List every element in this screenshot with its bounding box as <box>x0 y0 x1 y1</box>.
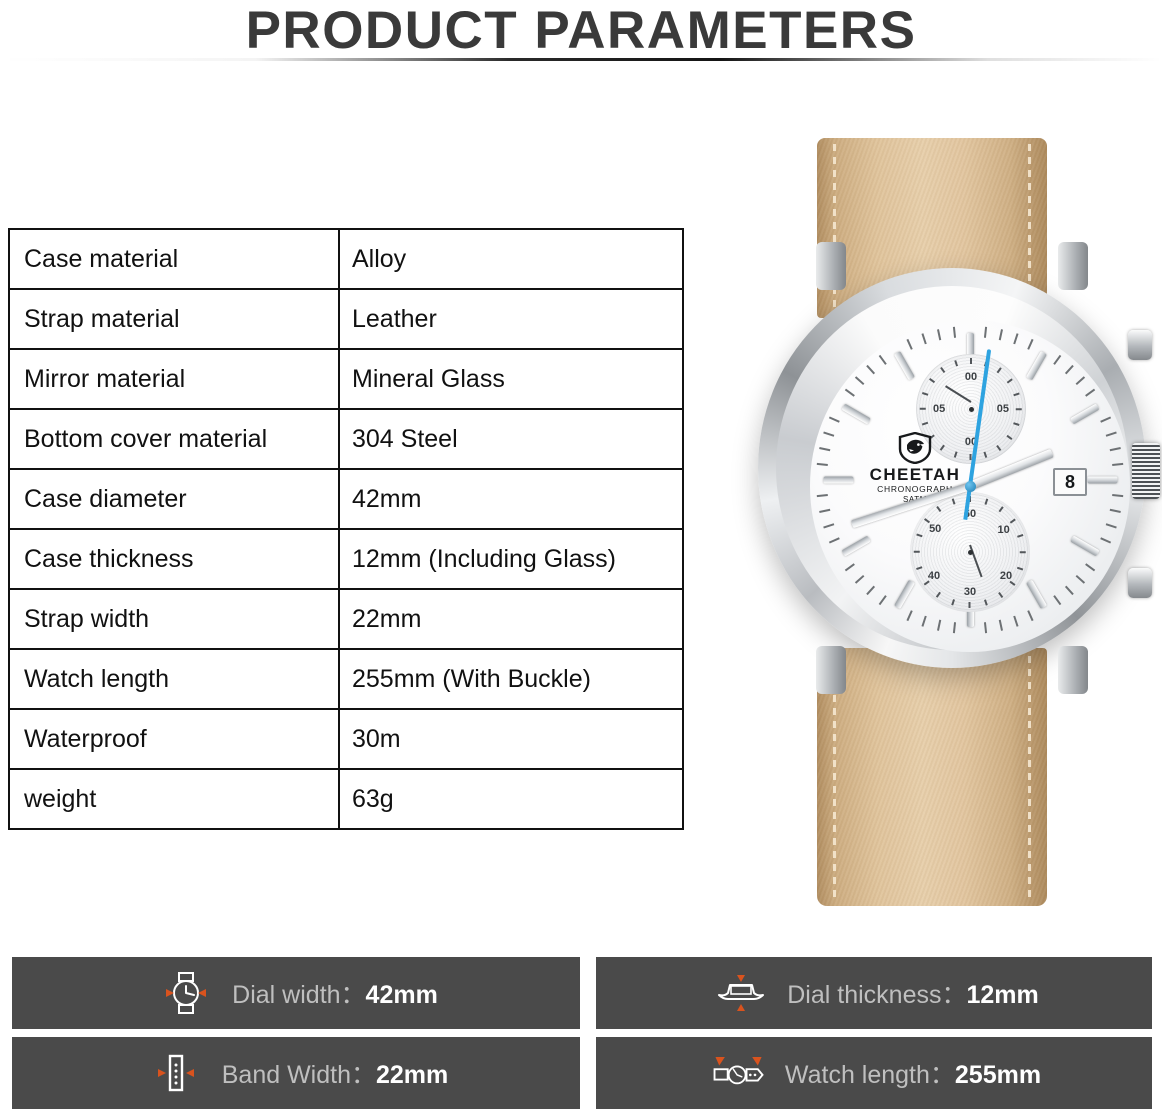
spec-value: 63g <box>339 769 683 829</box>
dial-minute-tick <box>819 509 830 513</box>
subdial-tick <box>1020 551 1026 553</box>
subdial-tick <box>999 592 1004 598</box>
subdial-tick <box>969 602 971 608</box>
measurement-bars: Dial width：42mm Dial thickness：12mm <box>12 957 1152 1117</box>
dial-minute-tick <box>999 620 1003 631</box>
dial-minute-tick <box>817 463 828 466</box>
spec-value: 30m <box>339 709 683 769</box>
measurement-row-1: Dial width：42mm Dial thickness：12mm <box>12 957 1152 1029</box>
watch-length-label: Watch length： <box>785 1061 955 1089</box>
dial-hour-index <box>893 580 914 609</box>
spec-value: 255mm (With Buckle) <box>339 649 683 709</box>
dial-minute-tick <box>866 365 875 375</box>
subdial-tick <box>984 452 987 458</box>
dial-minute-tick <box>1013 333 1018 344</box>
dial-minute-tick <box>953 622 956 633</box>
subdial-top-label-05-left: 05 <box>933 403 945 415</box>
subdial-tick <box>1007 435 1013 440</box>
subdial-tick <box>917 567 923 570</box>
dial-hour-index <box>1087 477 1117 484</box>
spec-value: Mineral Glass <box>339 349 683 409</box>
dial-minute-tick <box>845 563 855 571</box>
measurement-bar-band-width: Band Width：22mm <box>12 1037 580 1109</box>
dial-width-icon <box>154 969 218 1017</box>
dial-hour-index <box>1025 580 1046 609</box>
subdial-tick <box>922 422 928 425</box>
dial-minute-tick <box>1110 509 1121 513</box>
dial-minute-tick <box>1106 523 1117 528</box>
subdial-tick <box>955 360 958 366</box>
dial-minute-tick <box>1076 575 1086 584</box>
subdial-top-label-00-top: 00 <box>965 371 977 383</box>
spec-key: Bottom cover material <box>9 409 339 469</box>
subdial-tick <box>999 506 1004 512</box>
dial-thickness-text: Dial thickness：12mm <box>787 975 1039 1011</box>
dial-minute-tick <box>1106 431 1117 436</box>
title-divider <box>0 58 1162 61</box>
subdial-top-pin <box>969 407 974 412</box>
dial-hour-index <box>841 535 870 556</box>
spec-key: Case diameter <box>9 469 339 529</box>
dial-minute-tick <box>984 622 987 633</box>
subdial-tick <box>1016 408 1022 410</box>
dial-minute-tick <box>1112 463 1123 466</box>
table-row: Mirror materialMineral Glass <box>9 349 683 409</box>
dial-minute-tick <box>817 494 828 497</box>
watch-strap-bottom <box>817 648 1047 906</box>
spec-value: Leather <box>339 289 683 349</box>
watch-crown <box>1132 443 1160 499</box>
subdial-tick <box>920 408 926 410</box>
dial-minute-tick <box>1100 416 1111 422</box>
subdial-bottom-label-30: 30 <box>964 586 976 598</box>
subdial-tick <box>985 599 988 605</box>
spec-value: 22mm <box>339 589 683 649</box>
subdial-tick <box>936 592 941 598</box>
dial-hour-index <box>1070 403 1099 424</box>
dial-minute-tick <box>823 523 834 528</box>
table-row: Case materialAlloy <box>9 229 683 289</box>
band-width-icon <box>144 1049 208 1097</box>
spec-key: Case thickness <box>9 529 339 589</box>
subdial-tick <box>1014 422 1020 425</box>
measurement-bar-dial-thickness: Dial thickness：12mm <box>596 957 1152 1029</box>
table-row: Case diameter42mm <box>9 469 683 529</box>
chronograph-pusher-top <box>1128 330 1152 360</box>
dial-thickness-value: 12mm <box>966 981 1038 1009</box>
table-row: Waterproof30m <box>9 709 683 769</box>
spec-key: Strap material <box>9 289 339 349</box>
subdial-tick <box>985 499 988 505</box>
spec-value: 12mm (Including Glass) <box>339 529 683 589</box>
hands-center-pin <box>965 481 976 492</box>
watch-length-text: Watch length：255mm <box>785 1055 1041 1091</box>
page-header: PRODUCT PARAMETERS <box>0 0 1162 70</box>
dial-minute-tick <box>1076 376 1086 385</box>
measurement-row-2: Band Width：22mm Watch length：255mm <box>12 1037 1152 1109</box>
subdial-tick <box>1017 534 1023 537</box>
dial-minute-tick <box>1100 537 1111 543</box>
subdial-tick <box>940 367 945 373</box>
subdial-top-hand <box>945 385 972 403</box>
dial-minute-tick <box>855 575 865 584</box>
watch-bezel: 00 05 00 05 60 10 20 30 40 50 <box>776 286 1128 650</box>
dial-minute-tick <box>906 339 912 350</box>
dial-width-label: Dial width： <box>232 981 365 1009</box>
spec-value: Alloy <box>339 229 683 289</box>
spec-key: Watch length <box>9 649 339 709</box>
dial-minute-tick <box>1053 355 1061 365</box>
dial-minute-tick <box>1053 595 1061 605</box>
dial-minute-tick <box>1085 563 1095 571</box>
dial-minute-tick <box>829 537 840 543</box>
dial-hour-index <box>893 351 914 380</box>
subdial-tick <box>997 445 1002 451</box>
subdial-bottom: 60 10 20 30 40 50 <box>910 492 1030 612</box>
table-row: weight63g <box>9 769 683 829</box>
dial-thickness-label: Dial thickness： <box>787 981 966 1009</box>
dial-minute-tick <box>829 416 840 422</box>
band-width-value: 22mm <box>376 1061 448 1089</box>
subdial-tick <box>914 551 920 553</box>
dial-minute-tick <box>906 610 912 621</box>
subdial-tick <box>970 358 972 364</box>
dial-hour-index <box>823 477 853 484</box>
spec-key: weight <box>9 769 339 829</box>
subdial-tick <box>936 506 941 512</box>
table-row: Strap materialLeather <box>9 289 683 349</box>
dial-minute-tick <box>1110 447 1121 451</box>
dial-minute-tick <box>823 431 834 436</box>
dial-minute-tick <box>855 376 865 385</box>
dial-minute-tick <box>953 327 956 338</box>
band-width-label: Band Width： <box>222 1061 376 1089</box>
dial-minute-tick <box>1027 610 1033 621</box>
dial-width-value: 42mm <box>366 981 438 1009</box>
subdial-tick <box>1007 378 1013 383</box>
dial-minute-tick <box>921 616 926 627</box>
spec-key: Case material <box>9 229 339 289</box>
dial-minute-tick <box>999 329 1003 340</box>
watch-lug <box>816 242 846 290</box>
dial-minute-tick <box>984 327 987 338</box>
watch-length-value: 255mm <box>955 1061 1041 1089</box>
table-row: Bottom cover material304 Steel <box>9 409 683 469</box>
spec-key: Mirror material <box>9 349 339 409</box>
subdial-tick <box>952 599 955 605</box>
strap-stitch <box>1028 656 1031 900</box>
table-row: Watch length255mm (With Buckle) <box>9 649 683 709</box>
watch-lug <box>1058 242 1088 290</box>
date-window: 8 <box>1053 468 1087 496</box>
specification-table: Case materialAlloyStrap materialLeatherM… <box>8 228 684 830</box>
chronograph-pusher-bottom <box>1128 568 1152 598</box>
subdial-tick <box>917 534 923 537</box>
subdial-bottom-label-10: 10 <box>997 524 1009 536</box>
dial-minute-tick <box>845 389 855 397</box>
watch-lug <box>1058 646 1088 694</box>
table-row: Case thickness12mm (Including Glass) <box>9 529 683 589</box>
subdial-top-label-05-right: 05 <box>997 403 1009 415</box>
dial-minute-tick <box>921 333 926 344</box>
dial-minute-tick <box>866 586 875 596</box>
measurement-bar-dial-width: Dial width：42mm <box>12 957 580 1029</box>
dial-hour-index <box>1070 535 1099 556</box>
dial-minute-tick <box>879 355 887 365</box>
dial-hour-index <box>1025 351 1046 380</box>
dial-minute-tick <box>937 620 941 631</box>
subdial-tick <box>1017 567 1023 570</box>
watch-length-icon <box>707 1049 771 1097</box>
dial-thickness-icon <box>709 969 773 1017</box>
subdial-bottom-pin <box>968 550 973 555</box>
brand-name: CHEETAH <box>856 466 974 484</box>
watch-lug <box>816 646 846 694</box>
watch-product-image: 00 05 00 05 60 10 20 30 40 50 <box>742 118 1162 908</box>
measurement-bar-watch-length: Watch length：255mm <box>596 1037 1152 1109</box>
dial-minute-tick <box>1013 616 1018 627</box>
subdial-tick <box>1010 518 1016 523</box>
page-title: PRODUCT PARAMETERS <box>0 2 1162 60</box>
dial-minute-tick <box>1065 586 1074 596</box>
dial-width-text: Dial width：42mm <box>232 975 438 1011</box>
watch-dial: 00 05 00 05 60 10 20 30 40 50 <box>810 320 1130 652</box>
subdial-bottom-label-40: 40 <box>928 570 940 582</box>
subdial-tick <box>1014 393 1020 396</box>
spec-value: 42mm <box>339 469 683 529</box>
subdial-bottom-label-20: 20 <box>1000 570 1012 582</box>
watch-case: 00 05 00 05 60 10 20 30 40 50 <box>758 268 1146 668</box>
subdial-tick <box>922 393 928 396</box>
dial-minute-tick <box>1112 494 1123 497</box>
subdial-bottom-label-50: 50 <box>929 523 941 535</box>
dial-minute-tick <box>1085 389 1095 397</box>
dial-minute-tick <box>1027 339 1033 350</box>
band-width-text: Band Width：22mm <box>222 1055 449 1091</box>
dial-minute-tick <box>879 595 887 605</box>
spec-key: Waterproof <box>9 709 339 769</box>
spec-value: 304 Steel <box>339 409 683 469</box>
spec-key: Strap width <box>9 589 339 649</box>
table-row: Strap width22mm <box>9 589 683 649</box>
dial-minute-tick <box>819 447 830 451</box>
dial-minute-tick <box>937 329 941 340</box>
subdial-tick <box>929 378 935 383</box>
dial-hour-index <box>841 403 870 424</box>
cheetah-shield-icon <box>898 432 932 464</box>
dial-minute-tick <box>1065 365 1074 375</box>
subdial-tick <box>997 367 1002 373</box>
